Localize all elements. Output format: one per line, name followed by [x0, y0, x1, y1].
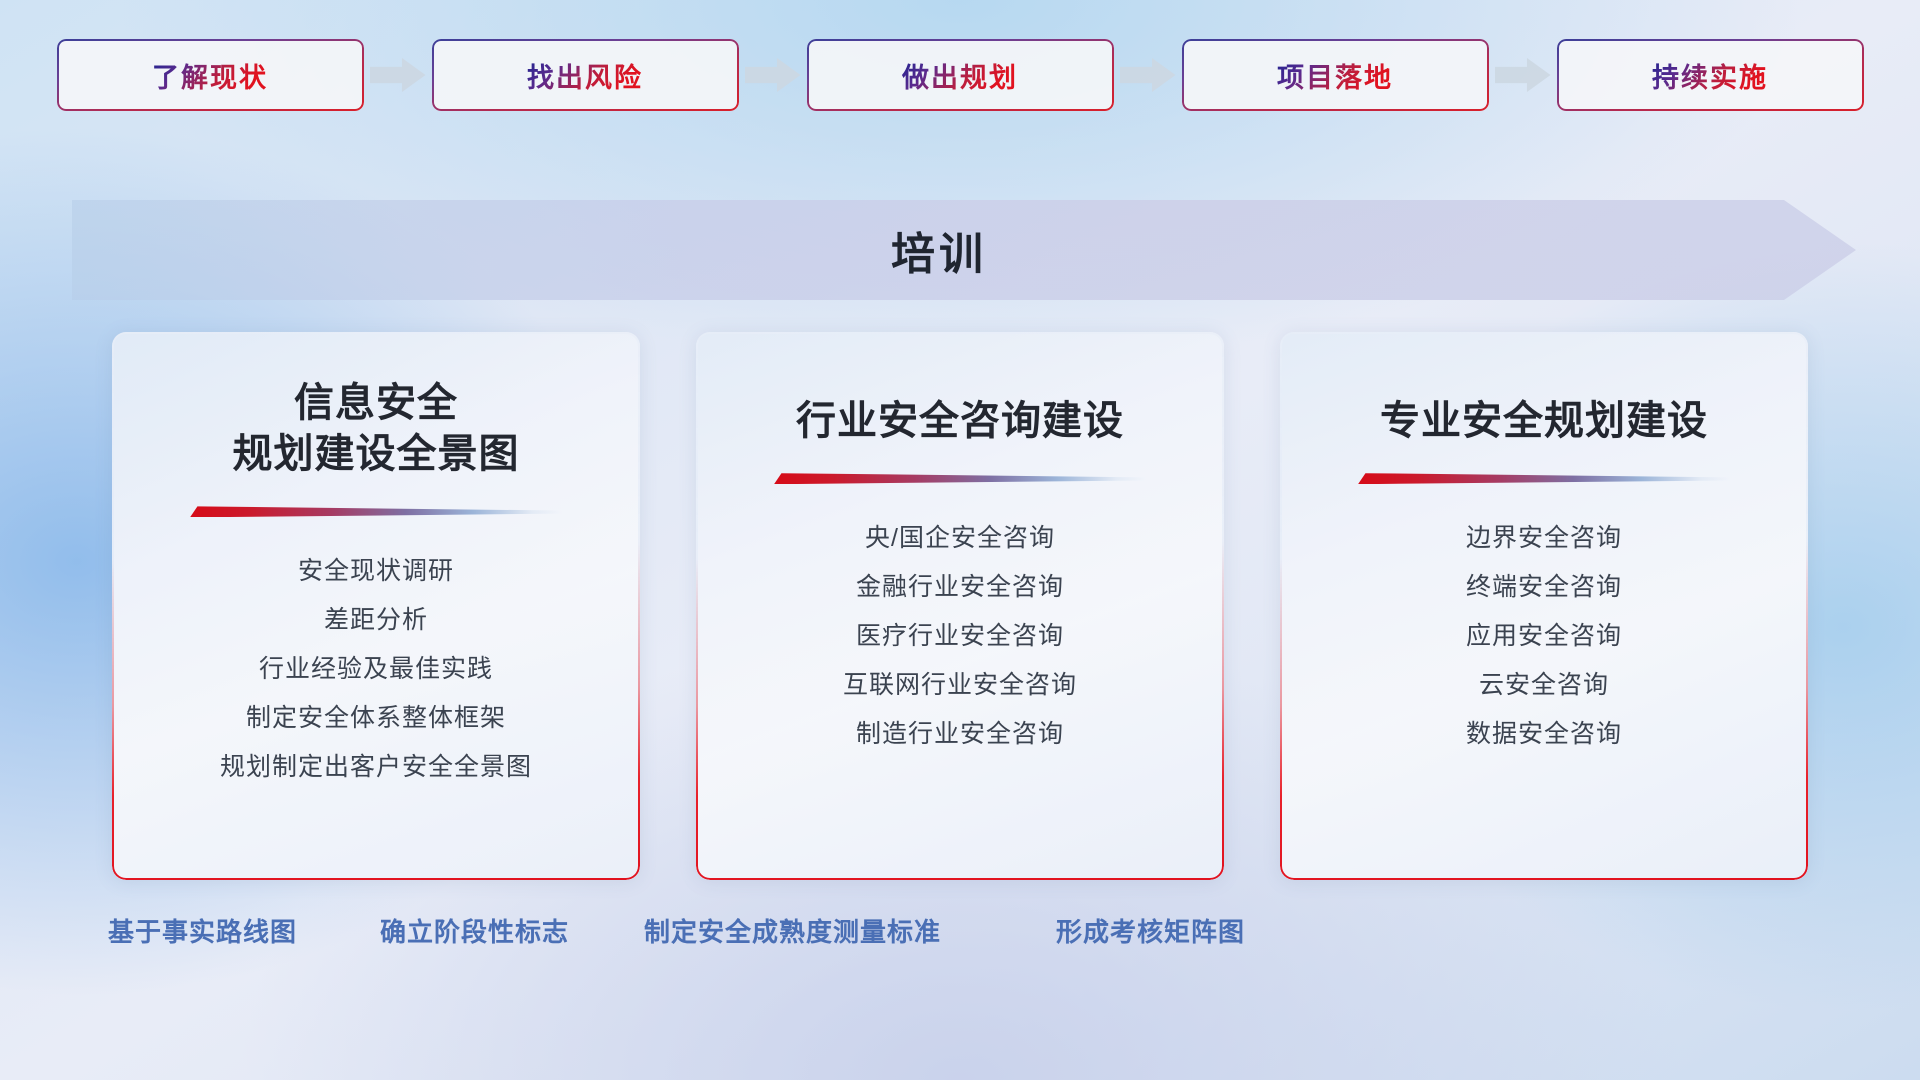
card-2[interactable]: 行业安全咨询建设 央/国企安全咨询 金融行业安全咨询 医疗行业安全咨询 互联网行…	[696, 332, 1224, 880]
footer-note: 基于事实路线图	[108, 912, 297, 949]
stage-chip-label: 了解现状	[152, 56, 268, 95]
list-item: 央/国企安全咨询	[865, 518, 1055, 554]
stage-chip-label: 找出风险	[527, 56, 643, 95]
stage-chip-3[interactable]: 做出规划	[807, 39, 1114, 111]
stage-chip-label: 做出规划	[902, 56, 1018, 95]
list-item: 云安全咨询	[1479, 665, 1609, 701]
stage-chip-2[interactable]: 找出风险	[432, 39, 739, 111]
list-item: 终端安全咨询	[1466, 567, 1622, 603]
card-divider	[190, 506, 562, 517]
footer-note: 形成考核矩阵图	[1056, 912, 1245, 949]
card-3[interactable]: 专业安全规划建设 边界安全咨询 终端安全咨询 应用安全咨询 云安全咨询 数据安全…	[1280, 332, 1808, 880]
banner-title: 培训	[72, 200, 1856, 300]
list-item: 医疗行业安全咨询	[856, 616, 1064, 652]
list-item: 制定安全体系整体框架	[246, 698, 506, 734]
card-title: 专业安全规划建设	[1380, 396, 1708, 447]
card-list: 央/国企安全咨询 金融行业安全咨询 医疗行业安全咨询 互联网行业安全咨询 制造行…	[843, 518, 1077, 750]
card-list: 边界安全咨询 终端安全咨询 应用安全咨询 云安全咨询 数据安全咨询	[1466, 518, 1622, 750]
list-item: 制造行业安全咨询	[856, 714, 1064, 750]
footer-note: 确立阶段性标志	[380, 912, 569, 949]
arrow-right-icon	[1495, 58, 1551, 92]
list-item: 差距分析	[324, 600, 428, 636]
list-item: 行业经验及最佳实践	[259, 649, 493, 685]
stage-chip-1[interactable]: 了解现状	[57, 39, 364, 111]
list-item: 规划制定出客户安全全景图	[220, 747, 532, 783]
footer-notes: 基于事实路线图 确立阶段性标志 制定安全成熟度测量标准 形成考核矩阵图	[0, 912, 1920, 982]
card-title: 行业安全咨询建设	[796, 396, 1124, 447]
list-item: 互联网行业安全咨询	[843, 665, 1077, 701]
card-title: 信息安全 规划建设全景图	[233, 378, 520, 480]
card-panel-2: 行业安全咨询建设 央/国企安全咨询 金融行业安全咨询 医疗行业安全咨询 互联网行…	[696, 332, 1224, 880]
list-item: 数据安全咨询	[1466, 714, 1622, 750]
list-item: 金融行业安全咨询	[856, 567, 1064, 603]
stage-chip-4[interactable]: 项目落地	[1182, 39, 1489, 111]
list-item: 应用安全咨询	[1466, 616, 1622, 652]
card-divider	[1358, 473, 1730, 484]
stage-chip-label: 持续实施	[1652, 56, 1768, 95]
card-1[interactable]: 信息安全 规划建设全景图 安全现状调研 差距分析 行业经验及最佳实践 制定安全体…	[112, 332, 640, 880]
list-item: 边界安全咨询	[1466, 518, 1622, 554]
list-item: 安全现状调研	[298, 551, 454, 587]
stage-strip: 了解现状 找出风险 做出规划 项目落地 持续实施	[0, 0, 1920, 150]
card-panel-3: 专业安全规划建设 边界安全咨询 终端安全咨询 应用安全咨询 云安全咨询 数据安全…	[1280, 332, 1808, 880]
training-banner: 培训	[72, 200, 1856, 300]
card-list: 安全现状调研 差距分析 行业经验及最佳实践 制定安全体系整体框架 规划制定出客户…	[220, 551, 532, 783]
stage-chip-5[interactable]: 持续实施	[1557, 39, 1864, 111]
arrow-right-icon	[370, 58, 426, 92]
stage-chip-label: 项目落地	[1277, 56, 1393, 95]
arrow-right-icon	[745, 58, 801, 92]
arrow-right-icon	[1120, 58, 1176, 92]
card-panel-1: 信息安全 规划建设全景图 安全现状调研 差距分析 行业经验及最佳实践 制定安全体…	[112, 332, 640, 880]
footer-note: 制定安全成熟度测量标准	[644, 912, 941, 949]
card-divider	[774, 473, 1146, 484]
cards-row: 信息安全 规划建设全景图 安全现状调研 差距分析 行业经验及最佳实践 制定安全体…	[0, 332, 1920, 880]
